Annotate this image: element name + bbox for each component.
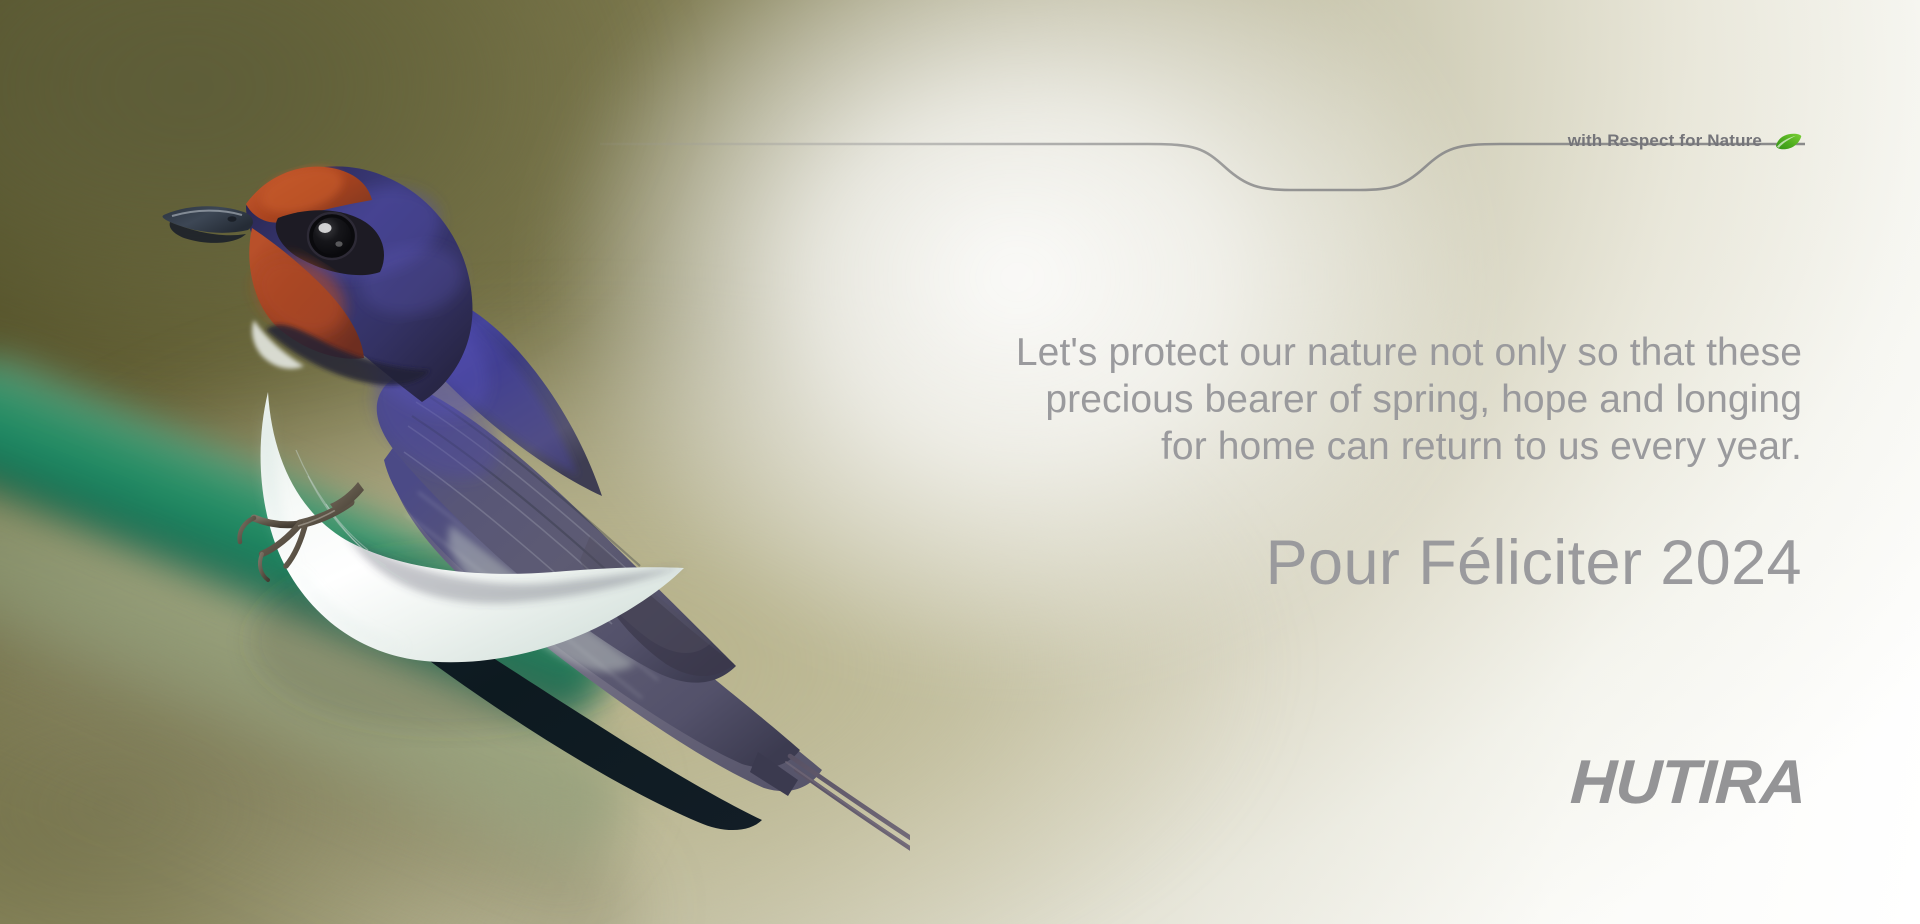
message-line-1: Let's protect our nature not only so tha…: [802, 330, 1802, 377]
headline: Pour Féliciter 2024: [802, 530, 1802, 596]
tagline-text: with Respect for Nature: [1568, 131, 1762, 151]
tagline: with Respect for Nature: [1568, 131, 1802, 151]
leaf-icon: [1775, 132, 1802, 151]
greeting-card: with Respect for Nature Let's protect ou…: [0, 0, 1920, 924]
copy-block: Let's protect our nature not only so tha…: [802, 330, 1802, 597]
barn-swallow-photo: [150, 120, 910, 900]
message-text: Let's protect our nature not only so tha…: [802, 330, 1802, 470]
hutira-logo: HUTIRA: [1569, 752, 1807, 814]
message-line-3: for home can return to us every year.: [802, 424, 1802, 471]
message-line-2: precious bearer of spring, hope and long…: [802, 377, 1802, 424]
